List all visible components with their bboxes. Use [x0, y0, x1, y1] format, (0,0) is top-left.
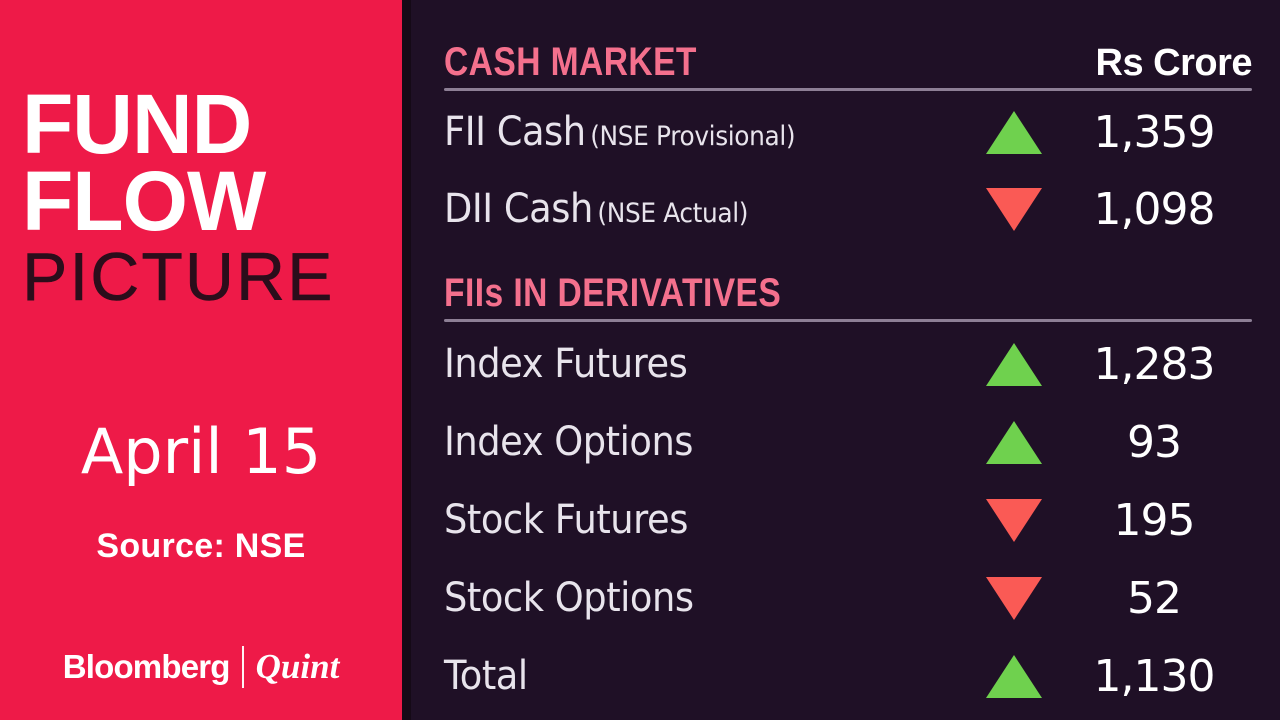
logo-quint-text: Quint — [256, 647, 340, 687]
direction-indicator — [978, 421, 1050, 464]
section-divider-derivatives — [444, 319, 1252, 322]
row-label: Stock Futures — [444, 497, 688, 543]
row-label-text: Index Futures — [444, 341, 687, 387]
row-value: 1,130 — [1064, 651, 1244, 702]
direction-indicator — [978, 655, 1050, 698]
table-row: Stock Options 52 — [444, 568, 1280, 628]
row-label-qualifier: (NSE Provisional) — [590, 121, 795, 152]
section-header-derivatives: FIIs IN DERIVATIVES — [444, 271, 1252, 316]
row-label: FII Cash(NSE Provisional) — [444, 109, 795, 155]
brand-title-line-2: FLOW — [22, 163, 382, 240]
row-label-text: Index Options — [444, 419, 693, 465]
section-title-cash-market: CASH MARKET — [444, 40, 697, 85]
row-label: DII Cash(NSE Actual) — [444, 186, 748, 232]
row-value: 1,359 — [1064, 107, 1244, 158]
brand-title-block: FUND FLOW PICTURE — [22, 86, 382, 311]
direction-indicator — [978, 577, 1050, 620]
section-header-cash-market: CASH MARKET Rs Crore — [444, 40, 1252, 85]
row-label-text: Total — [444, 653, 528, 699]
section-title-derivatives: FIIs IN DERIVATIVES — [444, 271, 781, 316]
table-row: Index Futures 1,283 — [444, 334, 1280, 394]
row-label: Total — [444, 653, 528, 699]
row-value: 52 — [1064, 573, 1244, 624]
triangle-down-icon — [986, 188, 1042, 231]
direction-indicator — [978, 111, 1050, 154]
triangle-down-icon — [986, 577, 1042, 620]
direction-indicator — [978, 499, 1050, 542]
row-label: Index Futures — [444, 341, 687, 387]
publisher-logo: Bloomberg Quint — [0, 646, 402, 688]
row-label-qualifier: (NSE Actual) — [597, 198, 748, 229]
unit-label: Rs Crore — [1096, 42, 1253, 85]
source-label: Source: NSE — [0, 527, 402, 566]
logo-divider-icon — [242, 646, 244, 688]
direction-indicator — [978, 343, 1050, 386]
triangle-up-icon — [986, 421, 1042, 464]
row-label-text: Stock Futures — [444, 497, 688, 543]
panel-gap-strip — [402, 0, 411, 720]
row-label-text: FII Cash — [444, 109, 586, 155]
direction-indicator — [978, 188, 1050, 231]
section-divider-cash-market — [444, 88, 1252, 91]
table-row: Total 1,130 — [444, 646, 1280, 706]
logo-bloomberg-text: Bloomberg — [63, 648, 230, 686]
row-value: 1,283 — [1064, 339, 1244, 390]
row-label: Index Options — [444, 419, 693, 465]
brand-title-line-1: FUND — [22, 86, 382, 163]
table-row: Stock Futures 195 — [444, 490, 1280, 550]
triangle-up-icon — [986, 343, 1042, 386]
report-date: April 15 — [0, 415, 402, 488]
data-panel: CASH MARKET Rs Crore FII Cash(NSE Provis… — [411, 0, 1280, 720]
triangle-up-icon — [986, 111, 1042, 154]
triangle-up-icon — [986, 655, 1042, 698]
triangle-down-icon — [986, 499, 1042, 542]
row-value: 195 — [1064, 495, 1244, 546]
brand-title-line-3: PICTURE — [22, 243, 382, 311]
fund-flow-infographic: FUND FLOW PICTURE April 15 Source: NSE B… — [0, 0, 1280, 720]
table-row: DII Cash(NSE Actual) 1,098 — [444, 179, 1280, 239]
row-label-text: Stock Options — [444, 575, 694, 621]
left-brand-panel: FUND FLOW PICTURE April 15 Source: NSE B… — [0, 0, 402, 720]
row-label-text: DII Cash — [444, 186, 593, 232]
row-label: Stock Options — [444, 575, 694, 621]
table-row: FII Cash(NSE Provisional) 1,359 — [444, 102, 1280, 162]
row-value: 93 — [1064, 417, 1244, 468]
row-value: 1,098 — [1064, 184, 1244, 235]
table-row: Index Options 93 — [444, 412, 1280, 472]
